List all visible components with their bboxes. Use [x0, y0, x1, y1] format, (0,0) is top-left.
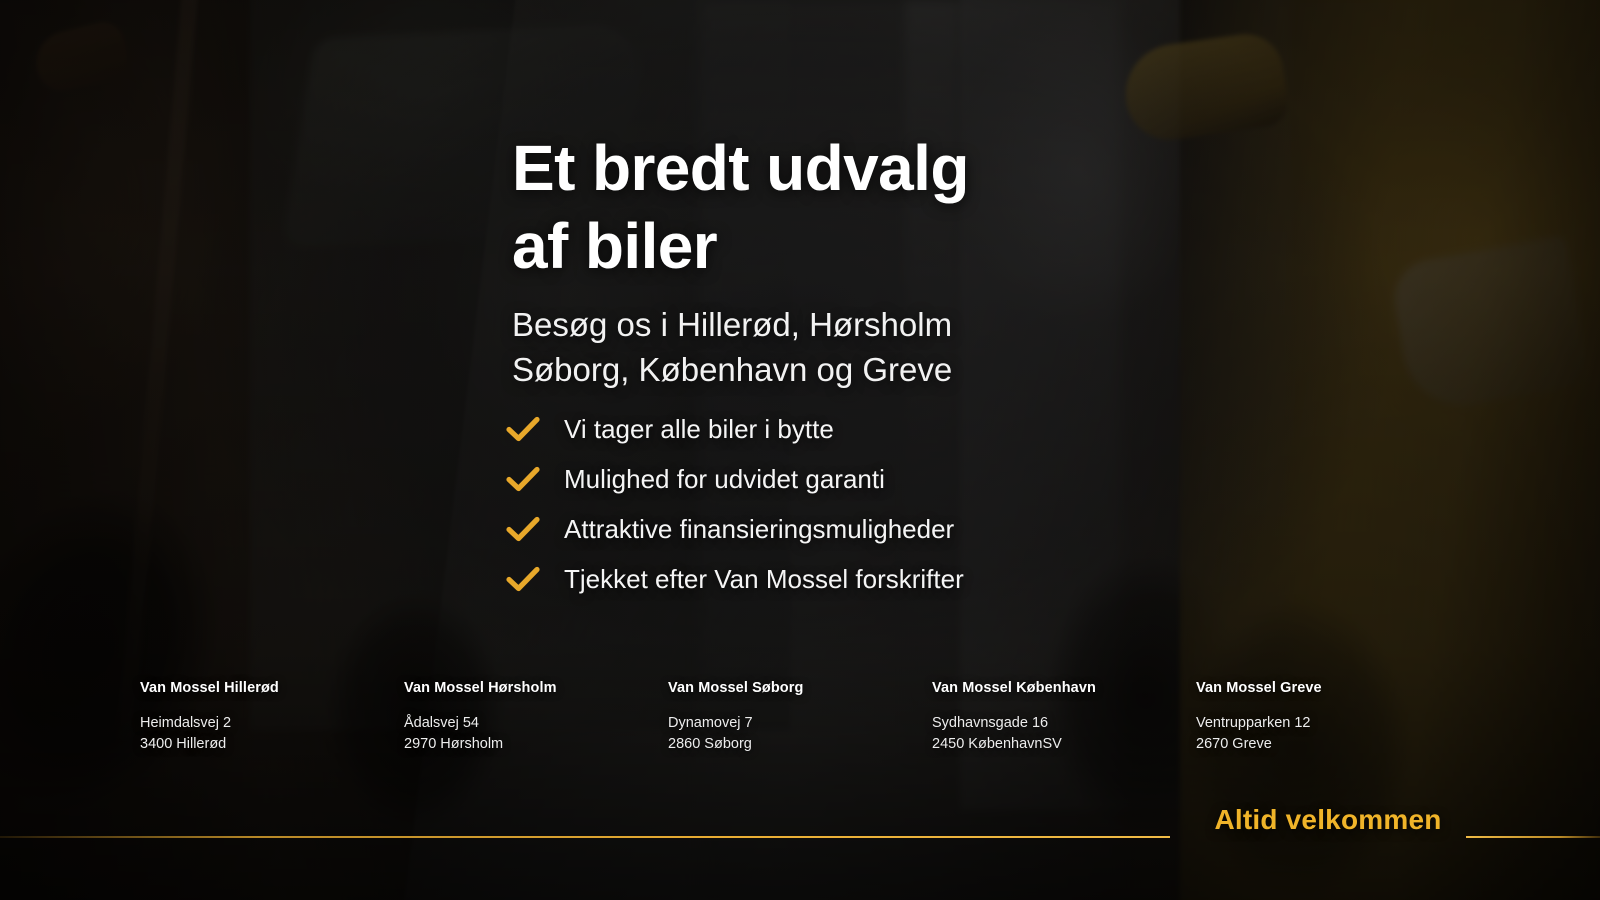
dealer-column: Van Mossel Hørsholm Ådalsvej 54 2970 Hør…	[404, 680, 668, 754]
dealer-name: Van Mossel Greve	[1196, 680, 1460, 696]
benefits-list: Vi tager alle biler i bytte Mulighed for…	[506, 404, 964, 604]
dealer-column: Van Mossel Hillerød Heimdalsvej 2 3400 H…	[140, 680, 404, 754]
check-icon	[506, 565, 540, 593]
benefit-item: Vi tager alle biler i bytte	[506, 404, 964, 454]
dealer-column: Van Mossel Søborg Dynamovej 7 2860 Søbor…	[668, 680, 932, 754]
tagline: Altid velkommen	[1196, 806, 1460, 834]
benefit-item: Tjekket efter Van Mossel forskrifter	[506, 554, 964, 604]
banner-content: Et bredt udvalg af biler Besøg os i Hill…	[0, 0, 1600, 900]
headline: Et bredt udvalg af biler	[512, 129, 1212, 285]
promo-banner: Et bredt udvalg af biler Besøg os i Hill…	[0, 0, 1600, 900]
benefit-item: Mulighed for udvidet garanti	[506, 454, 964, 504]
dealer-city: 3400 Hillerød	[140, 734, 404, 755]
footer-rule-right	[1466, 836, 1600, 838]
check-icon	[506, 415, 540, 443]
dealer-city: 2670 Greve	[1196, 734, 1460, 755]
dealer-city: 2860 Søborg	[668, 734, 932, 755]
benefit-label: Mulighed for udvidet garanti	[564, 466, 885, 492]
benefit-label: Tjekket efter Van Mossel forskrifter	[564, 566, 964, 592]
dealer-name: Van Mossel Hillerød	[140, 680, 404, 696]
dealer-street: Ventrupparken 12	[1196, 713, 1460, 734]
dealer-name: Van Mossel Søborg	[668, 680, 932, 696]
dealer-locations: Van Mossel Hillerød Heimdalsvej 2 3400 H…	[140, 680, 1460, 754]
dealer-street: Heimdalsvej 2	[140, 713, 404, 734]
subheadline: Besøg os i Hillerød, Hørsholm Søborg, Kø…	[512, 303, 1212, 393]
dealer-column: Van Mossel Greve Ventrupparken 12 2670 G…	[1196, 680, 1460, 754]
dealer-street: Dynamovej 7	[668, 713, 932, 734]
dealer-street: Ådalsvej 54	[404, 713, 668, 734]
dealer-name: Van Mossel Hørsholm	[404, 680, 668, 696]
check-icon	[506, 465, 540, 493]
benefit-label: Attraktive finansieringsmuligheder	[564, 516, 954, 542]
dealer-city: 2970 Hørsholm	[404, 734, 668, 755]
benefit-item: Attraktive finansieringsmuligheder	[506, 504, 964, 554]
dealer-street: Sydhavnsgade 16	[932, 713, 1196, 734]
dealer-name: Van Mossel København	[932, 680, 1196, 696]
benefit-label: Vi tager alle biler i bytte	[564, 416, 834, 442]
dealer-city: 2450 KøbenhavnSV	[932, 734, 1196, 755]
check-icon	[506, 515, 540, 543]
footer-rule-left	[0, 836, 1170, 838]
dealer-column: Van Mossel København Sydhavnsgade 16 245…	[932, 680, 1196, 754]
